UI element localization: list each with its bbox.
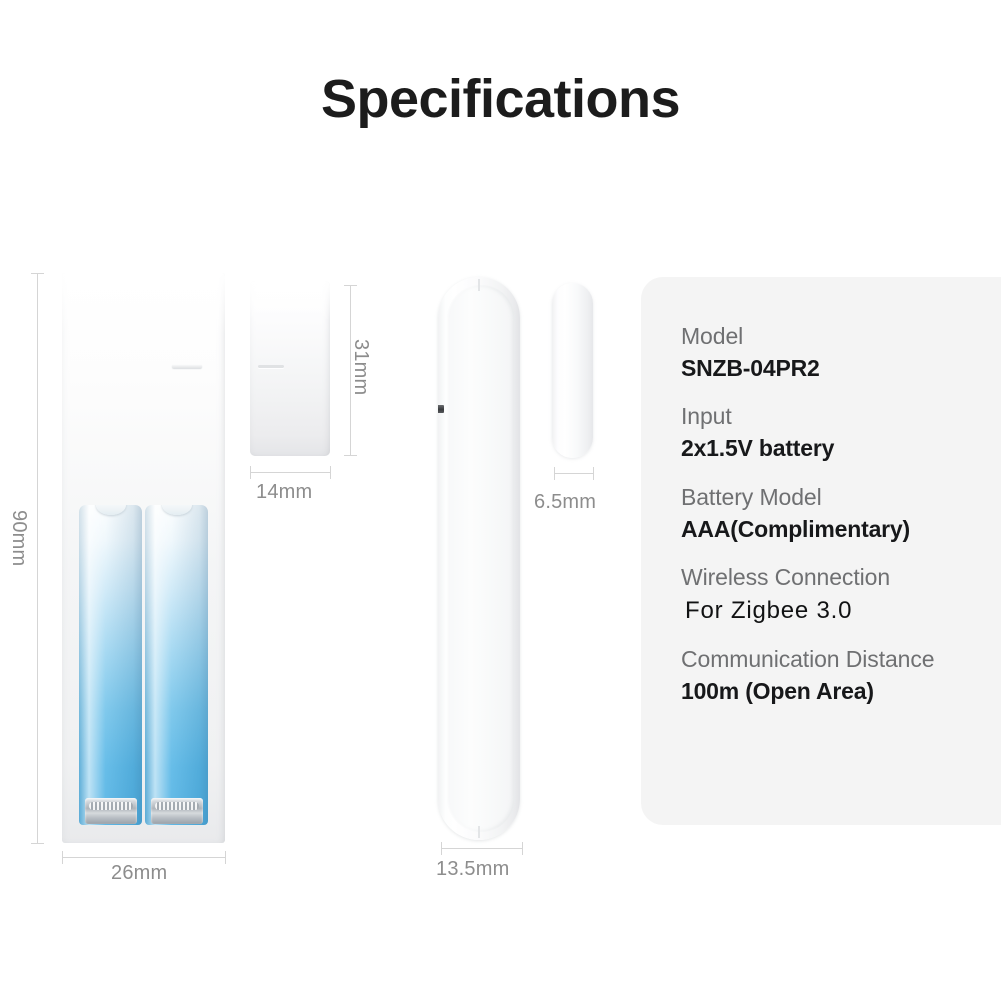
dimension-cap-bottom bbox=[344, 455, 357, 456]
spec-label-model: Model bbox=[681, 321, 1001, 353]
side-view-inner-edge bbox=[447, 285, 515, 832]
product-side-view bbox=[438, 277, 520, 840]
spec-row-battery-model: Battery Model AAA(Complimentary) bbox=[681, 482, 1001, 545]
dimension-label-thickness-magnet: 6.5mm bbox=[534, 491, 596, 514]
dimension-label-width-body: 26mm bbox=[111, 862, 167, 885]
dimension-label-height-magnet: 31mm bbox=[349, 339, 372, 395]
dimension-cap-left bbox=[441, 842, 442, 855]
dimension-line-width-body bbox=[62, 857, 225, 858]
dimension-line-height-body bbox=[37, 273, 38, 843]
dimension-line-thickness-magnet bbox=[554, 473, 593, 474]
dimension-label-width-magnet: 14mm bbox=[256, 481, 312, 504]
dimension-cap-right bbox=[330, 466, 331, 479]
spec-label-wireless-connection: Wireless Connection bbox=[681, 562, 1001, 594]
pairing-button-icon bbox=[438, 405, 444, 413]
side-view-seam-top bbox=[478, 279, 480, 291]
battery-cell bbox=[145, 505, 208, 825]
spec-value-communication-distance: 100m (Open Area) bbox=[681, 676, 1001, 708]
battery-cell bbox=[79, 505, 142, 825]
battery-cap-icon bbox=[96, 505, 126, 515]
dimension-cap-top bbox=[31, 273, 44, 274]
side-view-seam-bottom bbox=[478, 826, 480, 838]
magnet-side-view bbox=[552, 283, 593, 458]
dimension-cap-top bbox=[344, 285, 357, 286]
spec-row-communication-distance: Communication Distance 100m (Open Area) bbox=[681, 644, 1001, 707]
specifications-list: Model SNZB-04PR2 Input 2x1.5V battery Ba… bbox=[681, 321, 1001, 708]
spec-label-input: Input bbox=[681, 401, 1001, 433]
spec-row-wireless-connection: Wireless Connection For Zigbee 3.0 bbox=[681, 562, 1001, 627]
front-view-indicator-slot bbox=[172, 364, 202, 368]
spec-value-model: SNZB-04PR2 bbox=[681, 353, 1001, 385]
magnet-front-gloss bbox=[250, 281, 330, 321]
spec-value-input: 2x1.5V battery bbox=[681, 433, 1001, 465]
battery-compartment bbox=[74, 505, 213, 825]
spec-label-communication-distance: Communication Distance bbox=[681, 644, 1001, 676]
magnet-front-view bbox=[250, 281, 330, 456]
dimension-cap-left bbox=[554, 467, 555, 480]
dimension-cap-right bbox=[225, 851, 226, 864]
product-front-view bbox=[62, 273, 225, 843]
dimension-line-width-magnet bbox=[250, 472, 330, 473]
front-view-gloss bbox=[62, 273, 225, 335]
specifications-card: Model SNZB-04PR2 Input 2x1.5V battery Ba… bbox=[641, 277, 1001, 825]
dimension-line-thickness-body bbox=[441, 848, 522, 849]
battery-spring-contact bbox=[85, 798, 137, 824]
magnet-indicator-slot bbox=[258, 365, 284, 368]
dimension-cap-bottom bbox=[31, 843, 44, 844]
battery-spring-contact bbox=[151, 798, 203, 824]
dimension-label-height-body: 90mm bbox=[7, 510, 30, 566]
dimension-cap-right bbox=[522, 842, 523, 855]
dimension-cap-left bbox=[250, 466, 251, 479]
dimension-label-thickness-body: 13.5mm bbox=[436, 858, 509, 881]
battery-cap-icon bbox=[162, 505, 192, 515]
dimension-cap-right bbox=[593, 467, 594, 480]
spec-label-battery-model: Battery Model bbox=[681, 482, 1001, 514]
dimension-cap-left bbox=[62, 851, 63, 864]
page-title: Specifications bbox=[0, 68, 1001, 130]
spec-row-input: Input 2x1.5V battery bbox=[681, 401, 1001, 464]
spec-row-model: Model SNZB-04PR2 bbox=[681, 321, 1001, 384]
specifications-page: Specifications 90mm 26mm 31mm bbox=[0, 0, 1001, 1001]
spec-value-battery-model: AAA(Complimentary) bbox=[681, 514, 1001, 546]
spec-value-wireless-connection: For Zigbee 3.0 bbox=[681, 594, 1001, 627]
